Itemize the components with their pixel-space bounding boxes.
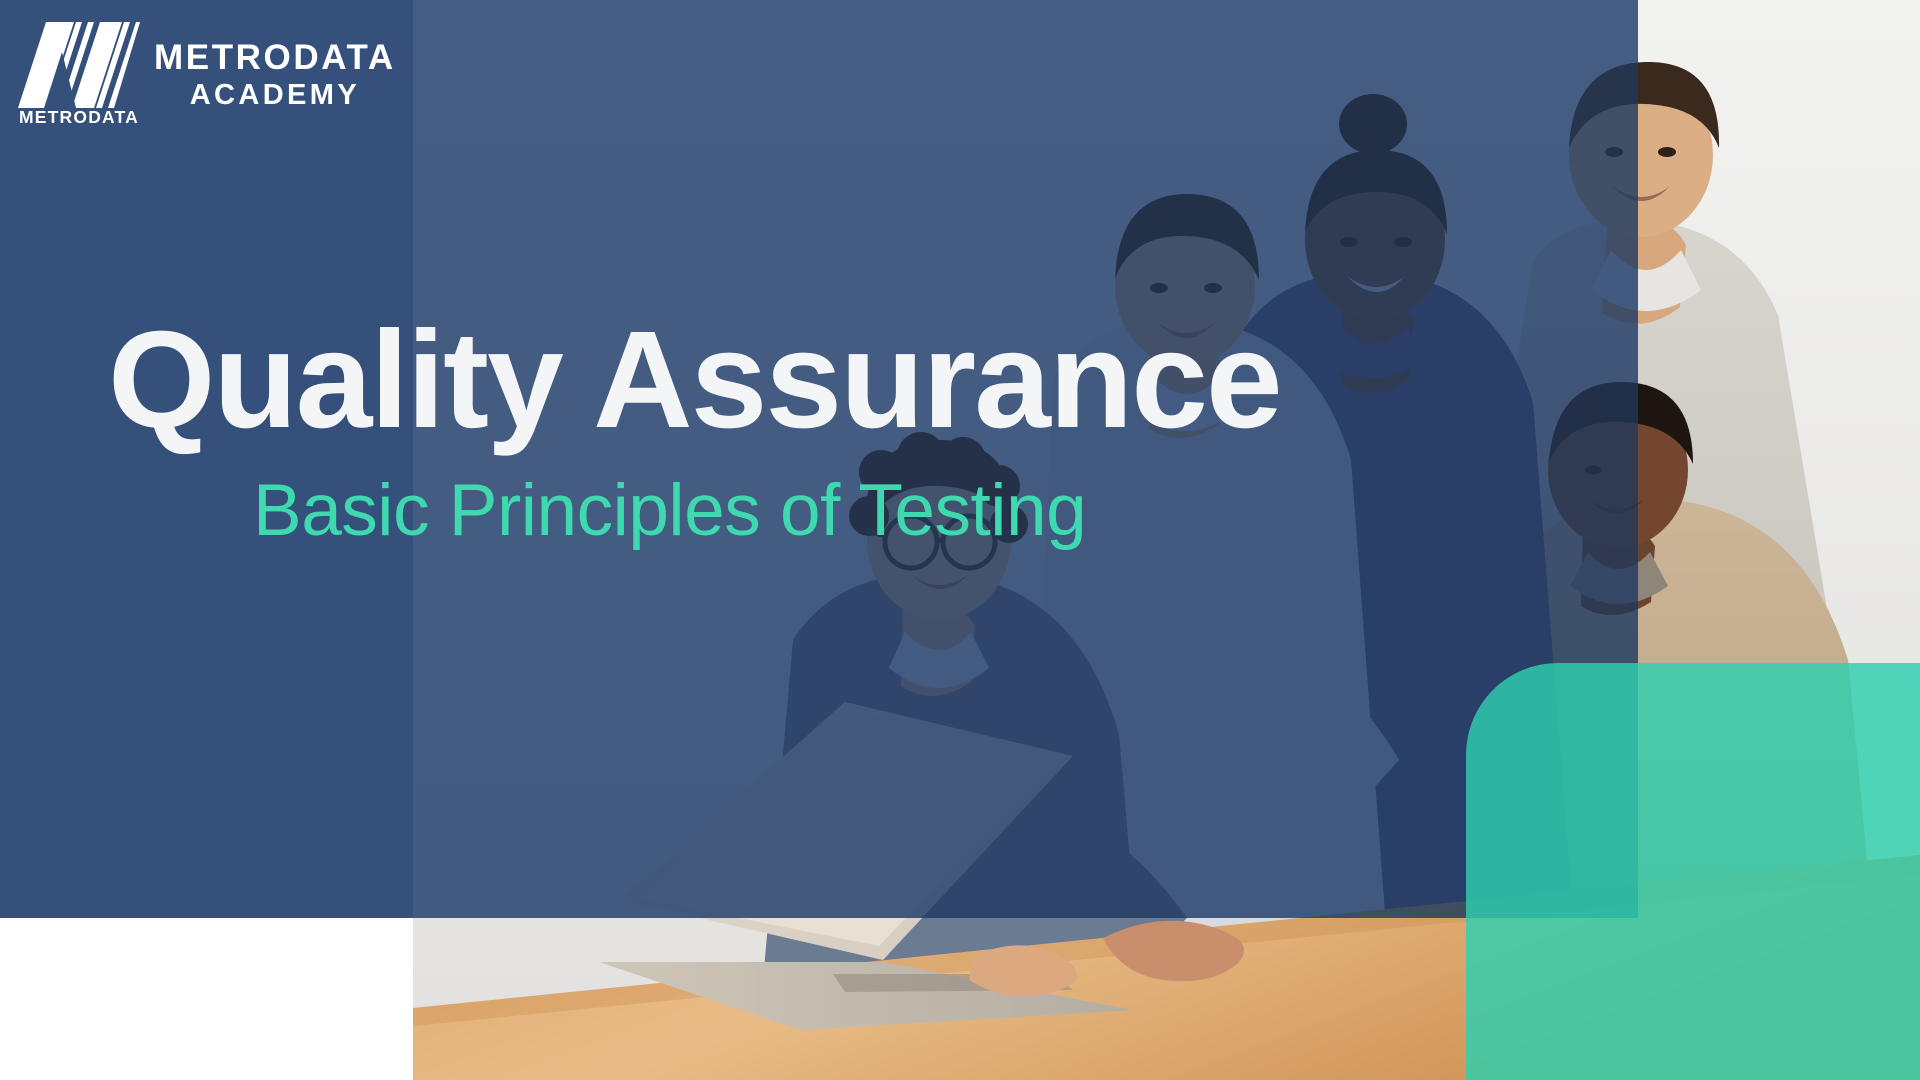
logo-mark-wordmark: METRODATA: [18, 107, 140, 128]
logo-sub-name: ACADEMY: [154, 77, 396, 113]
teal-accent-block: [1466, 663, 1920, 1080]
logo-text-block: METRODATA ACADEMY: [154, 22, 396, 113]
metrodata-m-logo-icon: METRODATA: [18, 22, 140, 132]
logo-company-name: METRODATA: [154, 38, 396, 77]
hero-text-block: Quality Assurance Basic Principles of Te…: [108, 310, 1528, 549]
slide-canvas: METRODATA METRODATA ACADEMY Quality Assu…: [0, 0, 1920, 1080]
page-title: Quality Assurance: [108, 310, 1528, 451]
metrodata-m-mark-svg: [18, 22, 140, 108]
page-subtitle: Basic Principles of Testing: [253, 473, 1528, 550]
metrodata-academy-logo[interactable]: METRODATA METRODATA ACADEMY: [18, 22, 396, 132]
